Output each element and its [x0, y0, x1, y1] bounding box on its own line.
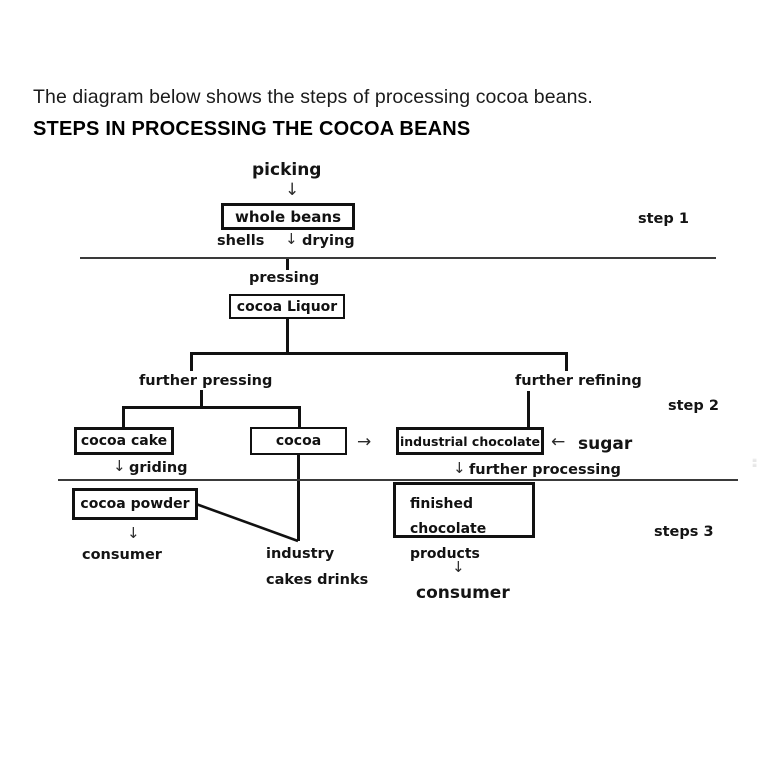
connector-refining-down	[527, 391, 530, 429]
arrow-down-icon-griding: ↓	[113, 459, 126, 474]
label-consumer-left: consumer	[82, 548, 162, 563]
divider-step2-step3	[58, 479, 738, 481]
label-shells: shells	[217, 234, 264, 249]
finished-line-3: products	[410, 542, 532, 567]
node-cocoa-powder[interactable]: cocoa powder	[72, 488, 198, 520]
stage-label-step-3: steps 3	[654, 525, 714, 540]
finished-line-2: chocolate	[410, 517, 532, 542]
scan-artifact: ≡≡	[752, 458, 757, 468]
connector-split-left	[190, 352, 193, 371]
label-industry: industry	[266, 547, 334, 562]
label-consumer-right: consumer	[416, 585, 510, 602]
arrow-down-icon-further-processing: ↓	[453, 461, 466, 476]
connector-beans-to-pressing	[286, 259, 289, 270]
label-pressing: pressing	[249, 271, 319, 286]
stage-label-step-1: step 1	[638, 212, 689, 227]
label-picking: picking	[252, 162, 321, 179]
bus-pressing-split	[122, 406, 300, 409]
finished-line-1: finished	[410, 492, 532, 517]
node-cocoa[interactable]: cocoa	[250, 427, 347, 455]
stage-label-step-2: step 2	[668, 399, 719, 414]
label-drying: drying	[302, 234, 355, 249]
connector-split-right	[565, 352, 568, 371]
intro-text: The diagram below shows the steps of pro…	[33, 86, 593, 109]
node-cocoa-cake[interactable]: cocoa cake	[74, 427, 174, 455]
bus-liquor-split	[190, 352, 567, 355]
arrow-right-icon-cocoa-to-chocolate: →	[357, 434, 371, 451]
arrow-down-icon-consumer-left: ↓	[127, 526, 140, 541]
node-finished-chocolate-products[interactable]: finished chocolate products	[393, 482, 535, 538]
page-title: STEPS IN PROCESSING THE COCOA BEANS	[33, 118, 470, 141]
arrow-down-icon-consumer-right: ↓	[452, 560, 465, 575]
connector-to-cocoa-cake	[122, 406, 125, 429]
connector-to-cocoa	[298, 406, 301, 429]
node-whole-beans[interactable]: whole beans	[221, 203, 355, 230]
node-industrial-chocolate[interactable]: industrial chocolate	[396, 427, 544, 455]
divider-step1-step2	[80, 257, 716, 259]
connector-powder-to-industry	[196, 500, 300, 544]
label-cakes-drinks: cakes drinks	[266, 573, 368, 588]
connector-liquor-down	[286, 319, 289, 353]
label-griding: griding	[129, 461, 188, 476]
arrow-down-icon-beans: ↓	[285, 232, 298, 247]
connector-further-pressing-down	[200, 390, 203, 407]
arrow-down-icon-picking: ↓	[285, 182, 299, 199]
arrow-left-icon-sugar: ←	[551, 434, 565, 451]
label-sugar: sugar	[578, 436, 632, 453]
label-further-processing: further processing	[469, 463, 621, 478]
diagram-canvas: The diagram below shows the steps of pro…	[0, 0, 768, 768]
node-cocoa-liquor[interactable]: cocoa Liquor	[229, 294, 345, 319]
label-further-pressing: further pressing	[139, 374, 272, 389]
label-further-refining: further refining	[515, 374, 642, 389]
